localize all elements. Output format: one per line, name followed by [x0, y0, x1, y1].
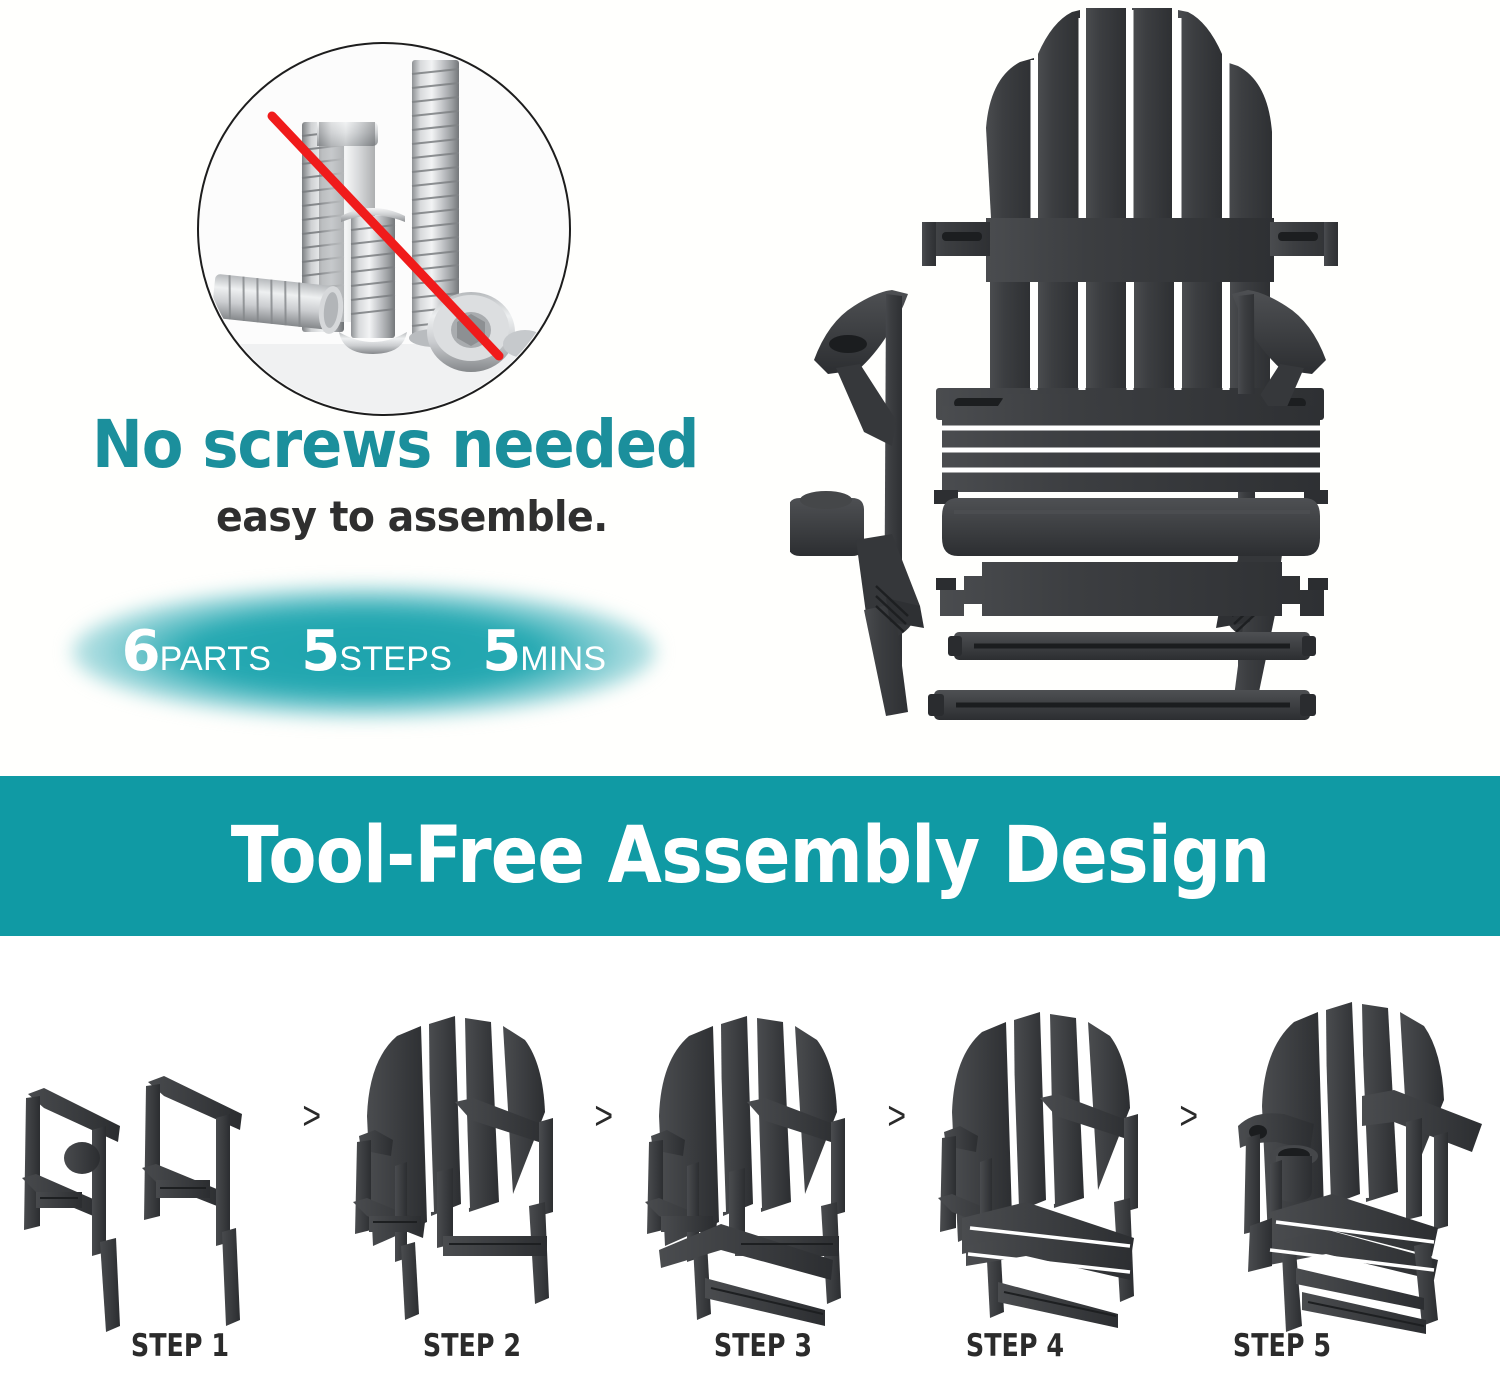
- assembly-steps-section: >: [0, 936, 1500, 1379]
- step-separator-1: >: [290, 936, 333, 1336]
- stat-steps-unit: STEPS: [339, 642, 452, 676]
- completed-chair-icon: [1210, 996, 1500, 1336]
- step-separator-4: >: [1168, 936, 1211, 1336]
- chair-with-seat-slats-icon: [918, 1006, 1168, 1336]
- right-frame: [142, 1076, 242, 1326]
- step-4-illustration: [918, 936, 1168, 1336]
- section-banner: Tool-Free Assembly Design: [0, 776, 1500, 936]
- stat-mins-unit: MINS: [520, 642, 606, 676]
- step-1-illustration: [0, 936, 290, 1336]
- step-2-label: STEP 2: [382, 1328, 562, 1364]
- stat-mins: 5 MINS: [482, 624, 606, 680]
- step-1-label: STEP 1: [90, 1328, 270, 1364]
- banner-title: Tool-Free Assembly Design: [231, 811, 1270, 901]
- stat-steps-number: 5: [301, 624, 339, 680]
- stat-parts-number: 6: [122, 624, 160, 680]
- page-title: No screws needed: [92, 406, 681, 483]
- left-frame: [22, 1088, 120, 1332]
- chair-with-front-rail-icon: [625, 1006, 875, 1336]
- chair-back-attached-icon: [333, 1006, 583, 1336]
- step-2-illustration: [333, 936, 583, 1336]
- exploded-chair-parts-diagram: [790, 0, 1350, 740]
- step-5-label: STEP 5: [1192, 1328, 1372, 1364]
- screws-photo: [199, 44, 569, 414]
- part-front-rail: [936, 562, 1328, 616]
- product-infographic: No screws needed easy to assemble. 6 PAR…: [0, 0, 1500, 1379]
- screws-photo-circle: [197, 42, 571, 416]
- stat-parts-unit: PARTS: [160, 642, 272, 676]
- step-5-illustration: [1210, 936, 1500, 1336]
- step-separator-2: >: [583, 936, 626, 1336]
- stat-steps: 5 STEPS: [301, 624, 452, 680]
- exploded-parts-svg: [790, 0, 1350, 740]
- step-3-label: STEP 3: [673, 1328, 853, 1364]
- part-cross-bar-lower: [928, 690, 1316, 720]
- top-feature-section: No screws needed easy to assemble. 6 PAR…: [0, 0, 1500, 776]
- part-cross-bar-upper: [948, 632, 1316, 660]
- part-seat-slats: [934, 394, 1328, 556]
- step-labels-row: STEP 1 STEP 2 STEP 3 STEP 4 STEP 5: [0, 1328, 1500, 1379]
- step-separator-3: >: [875, 936, 918, 1336]
- two-side-frames-parts-icon: [0, 1046, 290, 1336]
- step-3-illustration: [625, 936, 875, 1336]
- steps-row: >: [0, 936, 1500, 1336]
- step-4-label: STEP 4: [925, 1328, 1105, 1364]
- stat-mins-number: 5: [482, 624, 520, 680]
- stat-parts: 6 PARTS: [122, 624, 272, 680]
- page-subtitle: easy to assemble.: [216, 492, 818, 541]
- part-left-side-frame: [790, 290, 924, 716]
- stats-badge: 6 PARTS 5 STEPS 5 MINS: [72, 586, 656, 718]
